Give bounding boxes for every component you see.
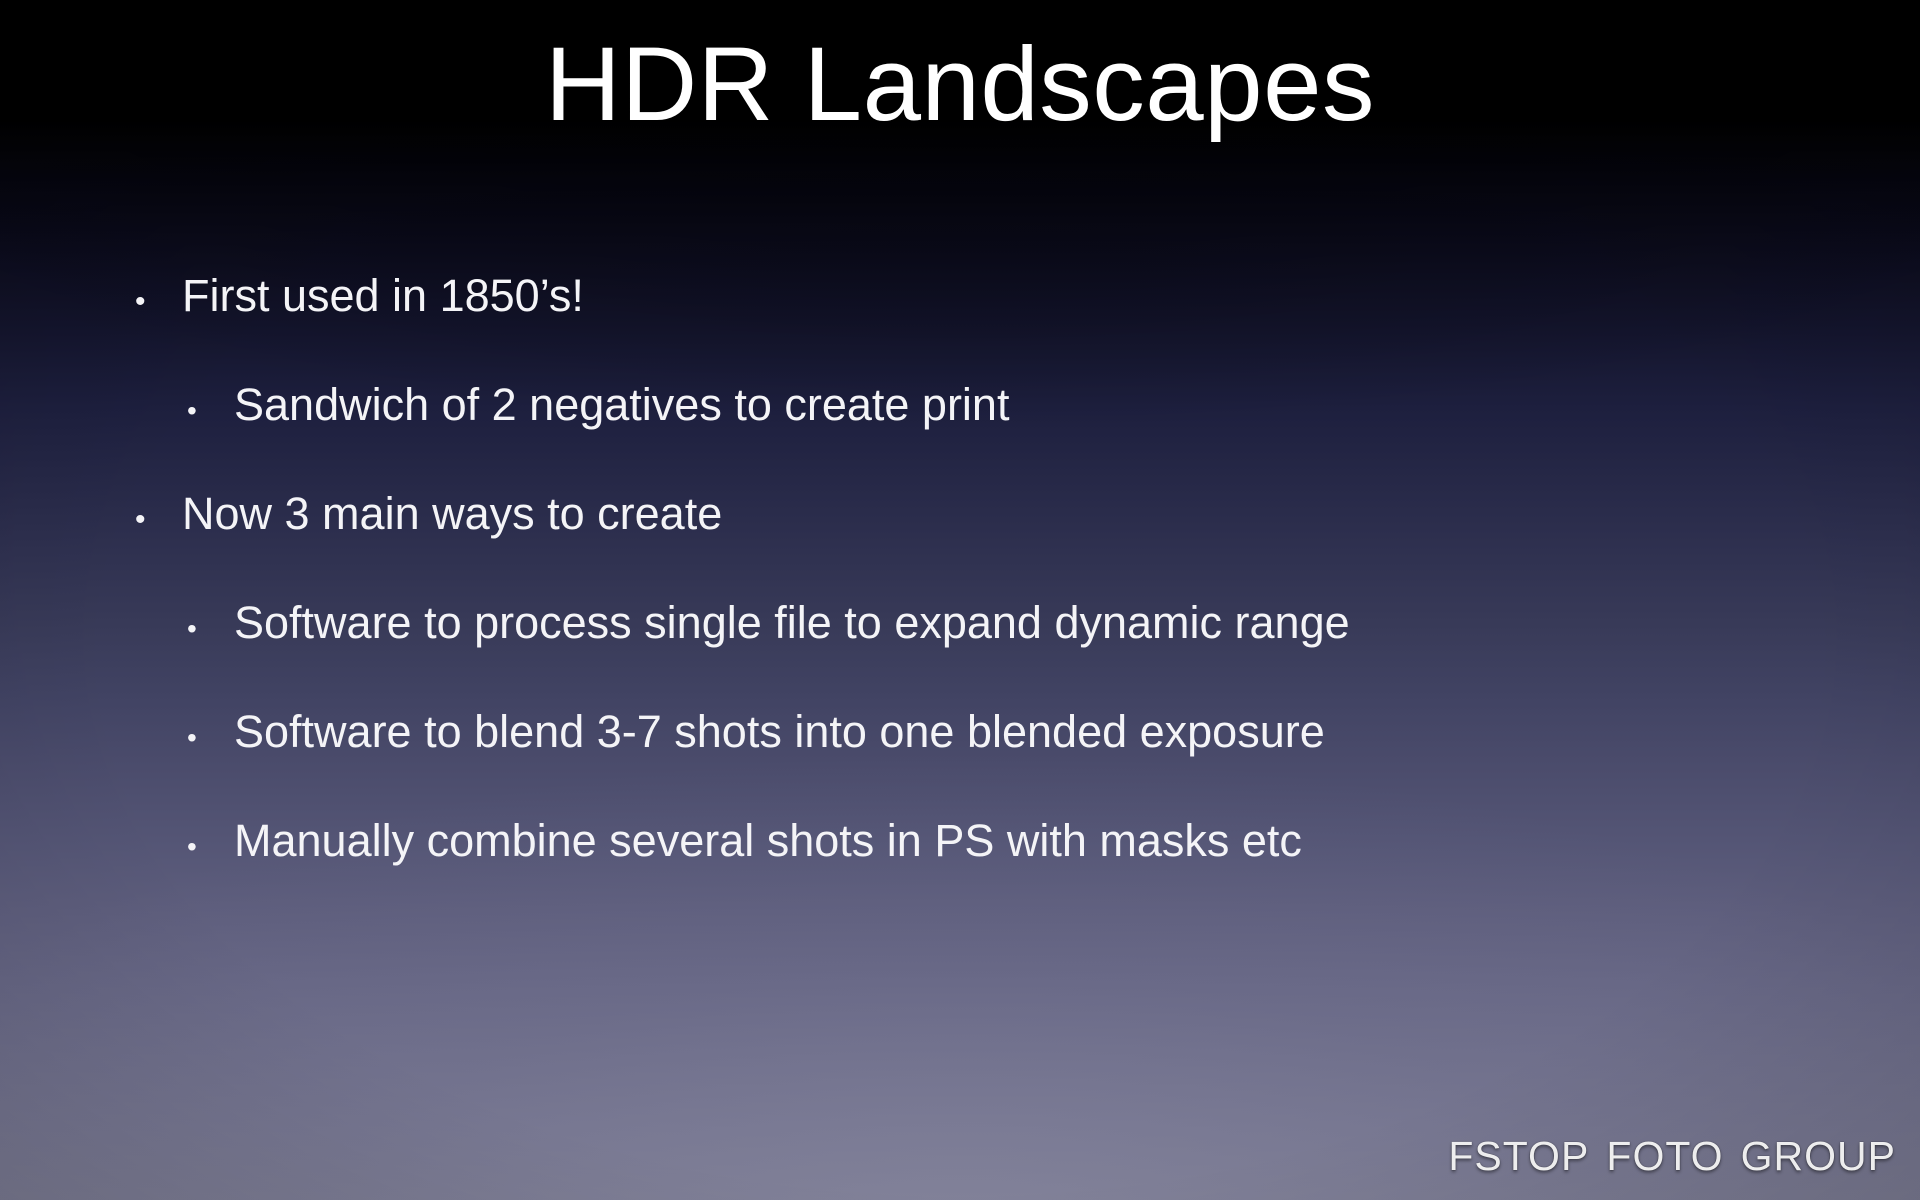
bullet-icon: • bbox=[187, 615, 234, 643]
presentation-slide: HDR Landscapes • First used in 1850’s! •… bbox=[0, 0, 1920, 1200]
brand-watermark: Fstop Foto Group bbox=[1448, 1122, 1896, 1180]
list-item: • Now 3 main ways to create bbox=[135, 488, 1840, 540]
list-item-label: Software to blend 3-7 shots into one ble… bbox=[234, 706, 1840, 758]
list-item-label: Sandwich of 2 negatives to create print bbox=[234, 379, 1840, 431]
bullet-icon: • bbox=[187, 833, 234, 861]
list-item-label: Manually combine several shots in PS wit… bbox=[234, 815, 1840, 867]
bullet-icon: • bbox=[187, 397, 234, 425]
bullet-icon: • bbox=[187, 724, 234, 752]
list-item: • Software to blend 3-7 shots into one b… bbox=[187, 706, 1840, 758]
slide-title: HDR Landscapes bbox=[0, 28, 1920, 141]
list-item: • Manually combine several shots in PS w… bbox=[187, 815, 1840, 867]
list-item-label: Software to process single file to expan… bbox=[234, 597, 1840, 649]
list-item: • Sandwich of 2 negatives to create prin… bbox=[187, 379, 1840, 431]
list-item-label: Now 3 main ways to create bbox=[182, 488, 1840, 540]
list-item: • First used in 1850’s! bbox=[135, 270, 1840, 322]
list-item-label: First used in 1850’s! bbox=[182, 270, 1840, 322]
bullet-icon: • bbox=[135, 505, 182, 535]
bullet-icon: • bbox=[135, 287, 182, 317]
list-item: • Software to process single file to exp… bbox=[187, 597, 1840, 649]
bullet-list: • First used in 1850’s! • Sandwich of 2 … bbox=[135, 270, 1840, 867]
